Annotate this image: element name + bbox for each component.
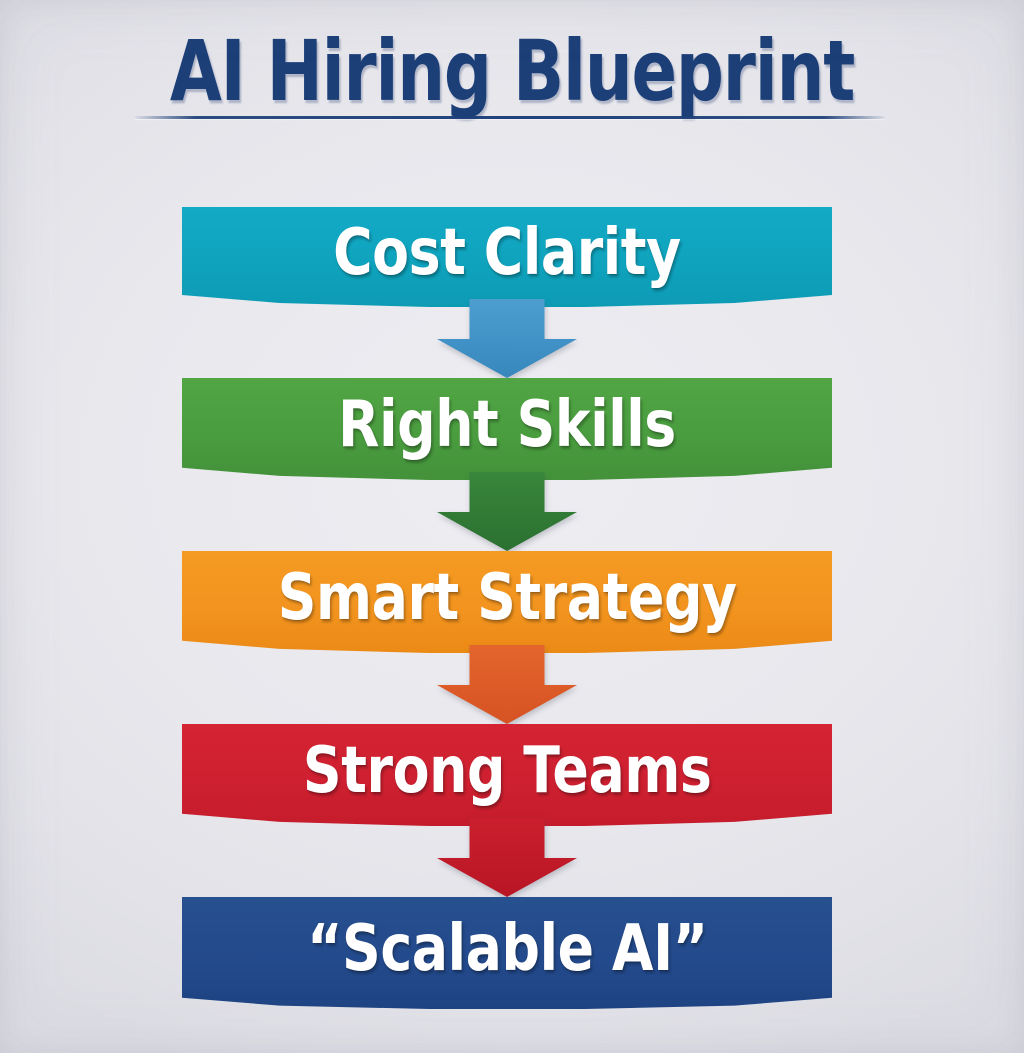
flow-step-cost-clarity: Cost Clarity — [182, 207, 832, 378]
arrow-wrap-3 — [182, 645, 832, 724]
banner-right-skills[interactable]: Right Skills — [182, 378, 832, 480]
flow-step-right-skills: Right Skills — [182, 378, 832, 551]
process-flow: Cost Clarity Right Skills — [182, 207, 832, 1009]
arrow-down-icon-2 — [437, 472, 577, 551]
banner-label-right-skills: Right Skills — [338, 388, 676, 462]
banner-scalable-ai[interactable]: “Scalable AI” — [182, 897, 832, 1009]
flow-step-strong-teams: Strong Teams — [182, 724, 832, 897]
arrow-wrap-2 — [182, 472, 832, 551]
page-title: AI Hiring Blueprint — [102, 28, 921, 115]
arrow-down-icon-1 — [437, 299, 577, 378]
banner-label-strong-teams: Strong Teams — [303, 734, 712, 808]
title-divider — [135, 116, 885, 119]
arrow-wrap-1 — [182, 299, 832, 378]
banner-strong-teams[interactable]: Strong Teams — [182, 724, 832, 826]
banner-label-scalable-ai: “Scalable AI” — [307, 912, 707, 986]
arrow-wrap-4 — [182, 818, 832, 897]
infographic-canvas: AI Hiring Blueprint Cost Clarity — [0, 0, 1024, 1053]
arrow-down-icon-3 — [437, 645, 577, 724]
arrow-down-icon-4 — [437, 818, 577, 897]
flow-step-smart-strategy: Smart Strategy — [182, 551, 832, 724]
banner-cost-clarity[interactable]: Cost Clarity — [182, 207, 832, 307]
banner-smart-strategy[interactable]: Smart Strategy — [182, 551, 832, 653]
banner-label-smart-strategy: Smart Strategy — [278, 561, 737, 635]
flow-step-scalable-ai: “Scalable AI” — [182, 897, 832, 1009]
title-block: AI Hiring Blueprint — [0, 28, 1024, 115]
banner-label-cost-clarity: Cost Clarity — [333, 216, 681, 290]
